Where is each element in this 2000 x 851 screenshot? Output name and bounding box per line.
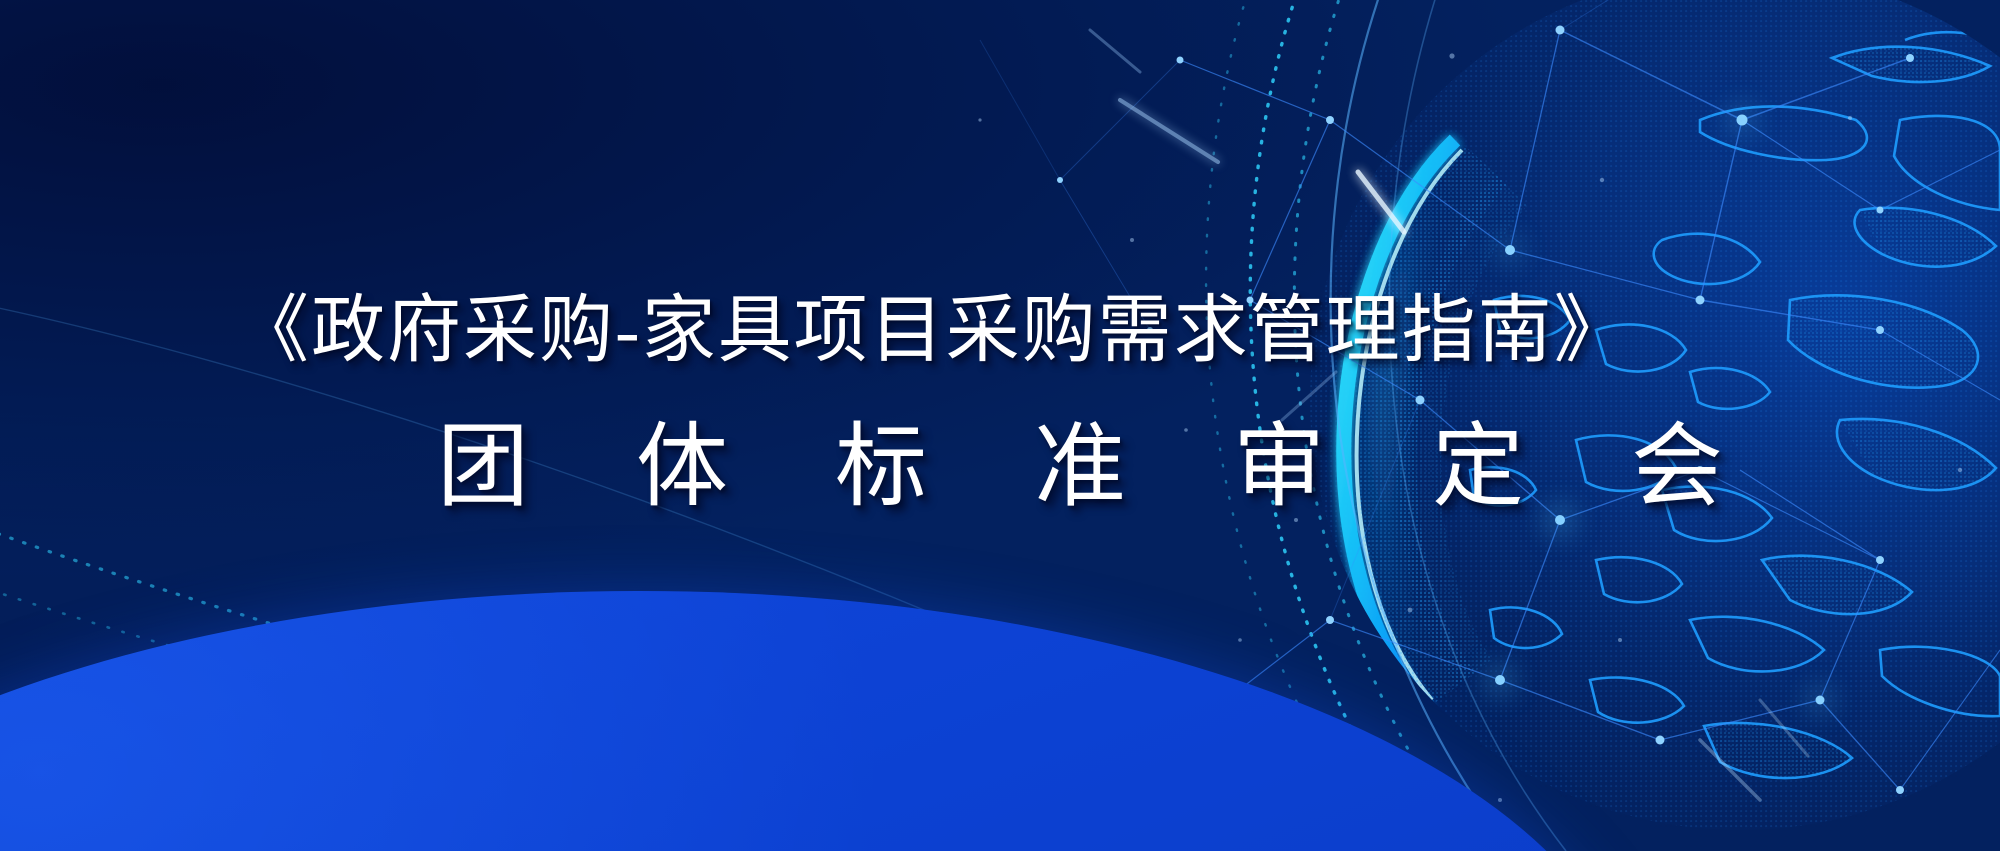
event-banner: 《政府采购-家具项目采购需求管理指南》 团 体 标 准 审 定 会	[0, 0, 2000, 851]
